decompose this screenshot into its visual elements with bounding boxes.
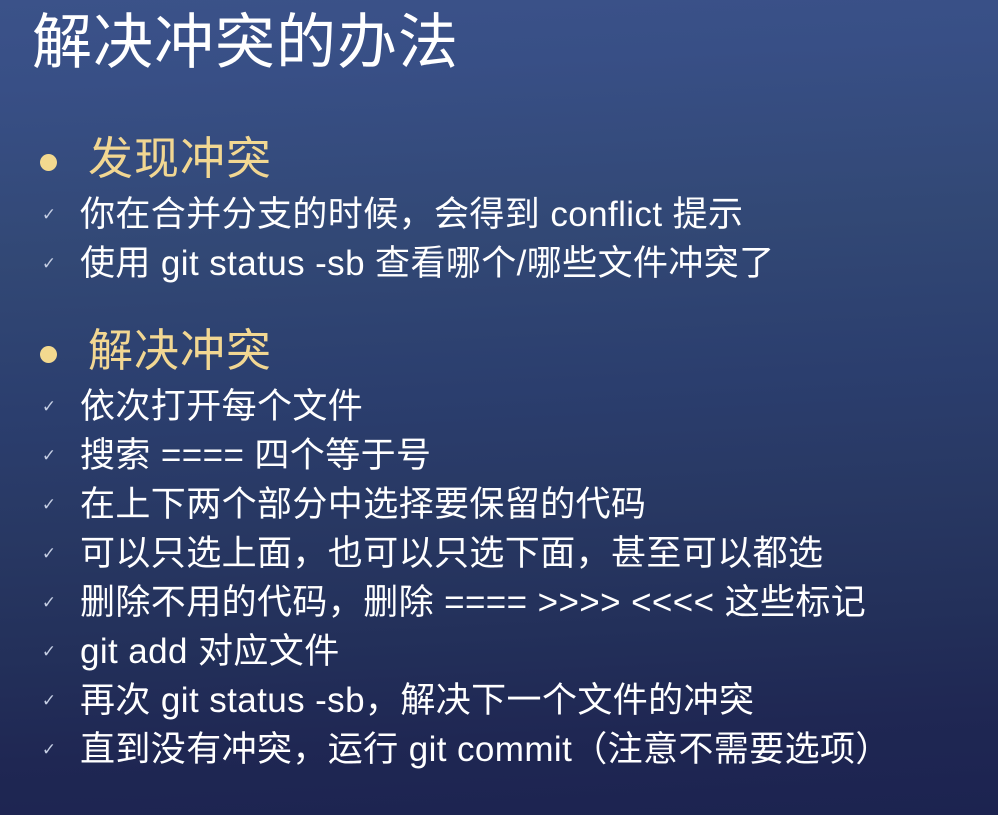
list-item-label: 依次打开每个文件 (80, 382, 363, 431)
list-item: ✓ 使用 git status -sb 查看哪个/哪些文件冲突了 (0, 239, 998, 288)
dot-bullet-icon (40, 346, 57, 363)
check-icon: ✓ (38, 578, 60, 627)
list-item-label: 在上下两个部分中选择要保留的代码 (80, 480, 646, 529)
list-item: ✓ 可以只选上面，也可以只选下面，甚至可以都选 (0, 529, 998, 578)
check-icon: ✓ (38, 480, 60, 529)
list-item-label: 再次 git status -sb，解决下一个文件的冲突 (80, 676, 754, 725)
slide-body: 发现冲突 ✓ 你在合并分支的时候，会得到 conflict 提示 ✓ 使用 gi… (0, 128, 998, 774)
check-icon: ✓ (38, 190, 60, 239)
check-icon: ✓ (38, 627, 60, 676)
list-item: ✓ 再次 git status -sb，解决下一个文件的冲突 (0, 676, 998, 725)
section-heading-row: 解决冲突 (0, 320, 998, 382)
list-item: ✓ 直到没有冲突，运行 git commit（注意不需要选项） (0, 725, 998, 774)
section-heading-row: 发现冲突 (0, 128, 998, 190)
check-icon: ✓ (38, 431, 60, 480)
list-item: ✓ 在上下两个部分中选择要保留的代码 (0, 480, 998, 529)
list-item: ✓ 你在合并分支的时候，会得到 conflict 提示 (0, 190, 998, 239)
check-icon: ✓ (38, 529, 60, 578)
slide-canvas: 解决冲突的办法 发现冲突 ✓ 你在合并分支的时候，会得到 conflict 提示… (0, 0, 998, 815)
section-resolve-conflict: 解决冲突 ✓ 依次打开每个文件 ✓ 搜索 ==== 四个等于号 ✓ 在上下两个部… (0, 320, 998, 774)
check-icon: ✓ (38, 239, 60, 288)
list-item-label: 直到没有冲突，运行 git commit（注意不需要选项） (80, 725, 891, 774)
list-item-label: 删除不用的代码，删除 ==== >>>> <<<< 这些标记 (80, 578, 866, 627)
check-icon: ✓ (38, 725, 60, 774)
list-item: ✓ 删除不用的代码，删除 ==== >>>> <<<< 这些标记 (0, 578, 998, 627)
page-title: 解决冲突的办法 (32, 8, 459, 78)
section-heading-label: 发现冲突 (88, 128, 272, 190)
list-item-label: git add 对应文件 (80, 627, 340, 676)
check-icon: ✓ (38, 676, 60, 725)
list-item-label: 你在合并分支的时候，会得到 conflict 提示 (80, 190, 743, 239)
list-item: ✓ git add 对应文件 (0, 627, 998, 676)
dot-bullet-icon (40, 154, 57, 171)
list-item: ✓ 搜索 ==== 四个等于号 (0, 431, 998, 480)
list-item-label: 可以只选上面，也可以只选下面，甚至可以都选 (80, 529, 823, 578)
list-item: ✓ 依次打开每个文件 (0, 382, 998, 431)
check-icon: ✓ (38, 382, 60, 431)
list-item-label: 搜索 ==== 四个等于号 (80, 431, 431, 480)
list-item-label: 使用 git status -sb 查看哪个/哪些文件冲突了 (80, 239, 775, 288)
section-discover-conflict: 发现冲突 ✓ 你在合并分支的时候，会得到 conflict 提示 ✓ 使用 gi… (0, 128, 998, 288)
section-heading-label: 解决冲突 (88, 320, 272, 382)
